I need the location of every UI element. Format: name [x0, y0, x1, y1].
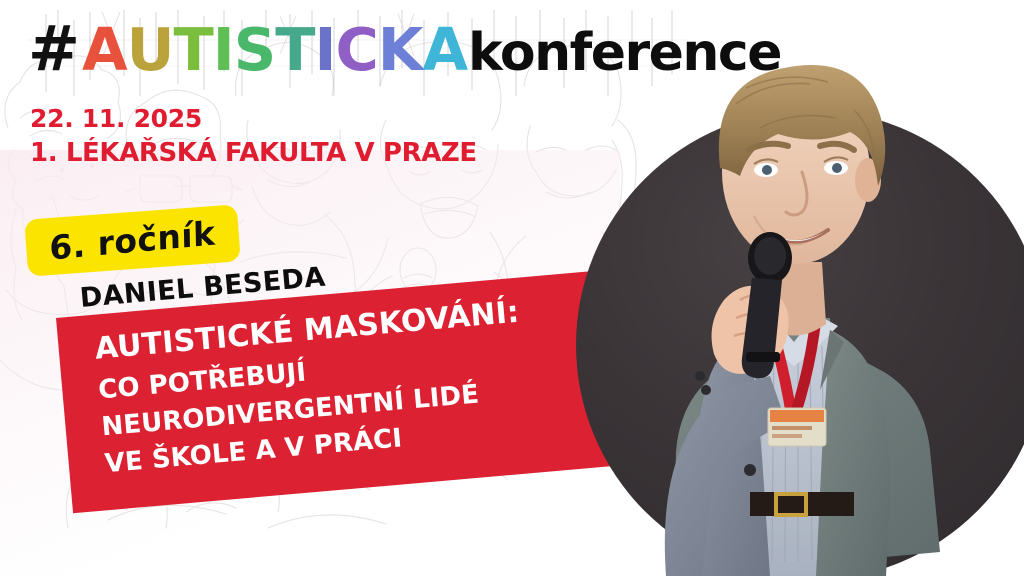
speaker-photo-area [554, 0, 1024, 576]
edition-badge-label: 6. ročník [49, 213, 216, 267]
hashtag-icon: # [28, 18, 78, 80]
logo-letter-7: I [315, 20, 336, 79]
event-venue: 1. LÉKAŘSKÁ FAKULTA V PRAZE [30, 137, 477, 170]
logo-wordmark: AUTISTICKA [82, 20, 467, 79]
logo-letter-4: I [213, 20, 234, 79]
logo-letter-3: T [174, 20, 213, 79]
logo-letter-10: A [423, 20, 468, 79]
event-info: 22. 11. 2025 1. LÉKAŘSKÁ FAKULTA V PRAZE [30, 104, 477, 169]
logo-letter-5: S [234, 20, 276, 79]
conference-poster: # AUTISTICKA konference 22. 11. 2025 1. … [0, 0, 1024, 576]
speaker-photo [554, 0, 1024, 576]
event-date: 22. 11. 2025 [30, 104, 477, 135]
logo-letter-1: A [82, 20, 127, 79]
logo-letter-8: C [335, 20, 377, 79]
logo-letter-6: T [275, 20, 314, 79]
logo-letter-2: U [127, 20, 174, 79]
edition-badge: 6. ročník [24, 204, 241, 276]
logo-letter-9: K [378, 20, 423, 79]
